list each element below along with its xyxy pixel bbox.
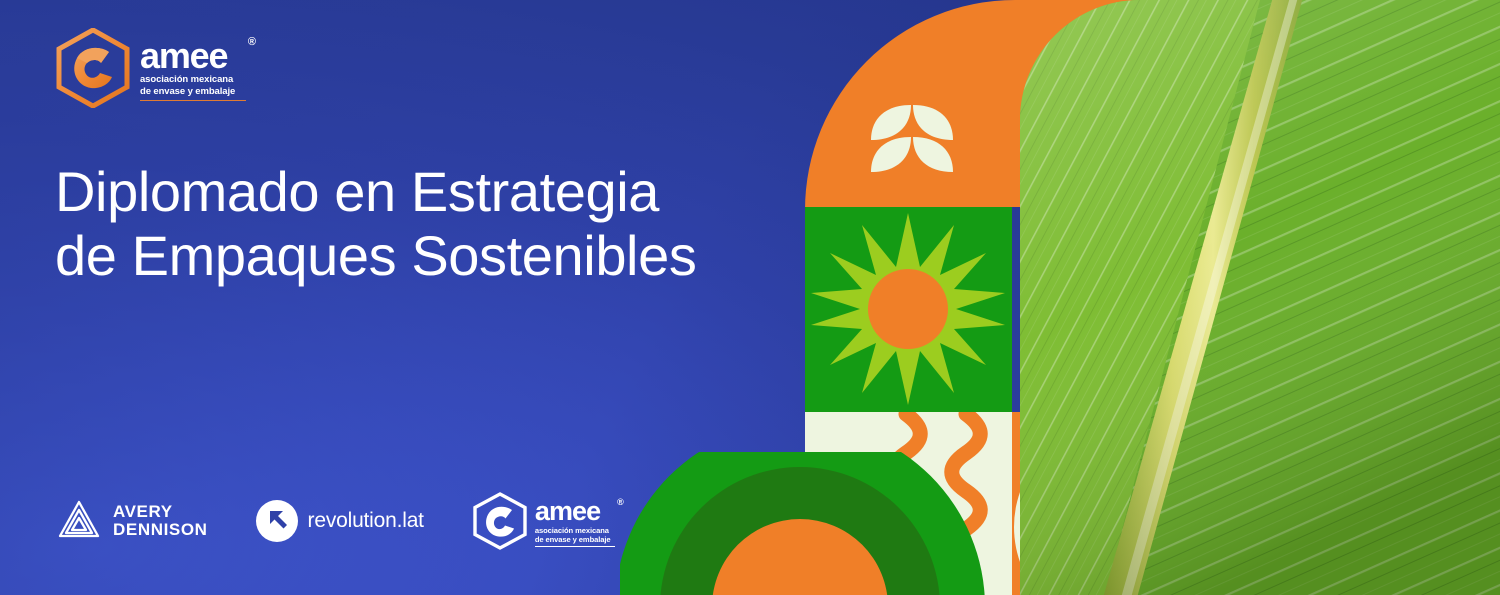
amee-tagline-secondary: asociación mexicana de envase y embalaje (535, 526, 615, 547)
amee-logo-primary: amee® asociación mexicana de envase y em… (55, 28, 250, 108)
amee-hexagon-icon-white (472, 492, 528, 550)
amee-wordmark: amee® asociación mexicana de envase y em… (140, 35, 246, 100)
avery-dennison-triangle-icon (55, 497, 103, 545)
amee-tagline-line1: asociación mexicana (140, 74, 233, 85)
avery-dennison-line2: DENNISON (113, 520, 208, 539)
partner-logo-avery-dennison: AVERY DENNISON (55, 497, 208, 545)
revolution-arrow-icon (256, 500, 298, 542)
partner-logo-revolution-lat: revolution.lat (256, 500, 424, 542)
amee-tagline-secondary-line2: de envase y embalaje (535, 535, 611, 544)
registered-mark: ® (248, 37, 256, 47)
revolution-lat-wordmark: revolution.lat (308, 509, 424, 533)
banana-leaf-photo (1020, 0, 1500, 595)
page-title: Diplomado en Estrategia de Empaques Sost… (55, 160, 775, 288)
avery-dennison-line1: AVERY (113, 502, 173, 521)
amee-tagline-line2: de envase y embalaje (140, 86, 235, 97)
amee-name-secondary: amee® (535, 499, 615, 524)
registered-mark: ® (617, 498, 623, 506)
amee-wordmark-secondary: amee® asociación mexicana de envase y em… (535, 495, 615, 547)
banner: amee® asociación mexicana de envase y em… (0, 0, 1500, 595)
amee-hexagon-icon (55, 28, 131, 108)
amee-tagline-secondary-line1: asociación mexicana (535, 526, 609, 535)
partner-logo-amee: amee® asociación mexicana de envase y em… (472, 492, 615, 550)
amee-name: amee® (140, 39, 246, 72)
amee-tagline: asociación mexicana de envase y embalaje (140, 74, 246, 100)
avery-dennison-wordmark: AVERY DENNISON (113, 503, 208, 539)
decorative-graphic-composition (805, 0, 1500, 595)
partner-logo-row: AVERY DENNISON revolution.lat amee® (55, 492, 615, 550)
